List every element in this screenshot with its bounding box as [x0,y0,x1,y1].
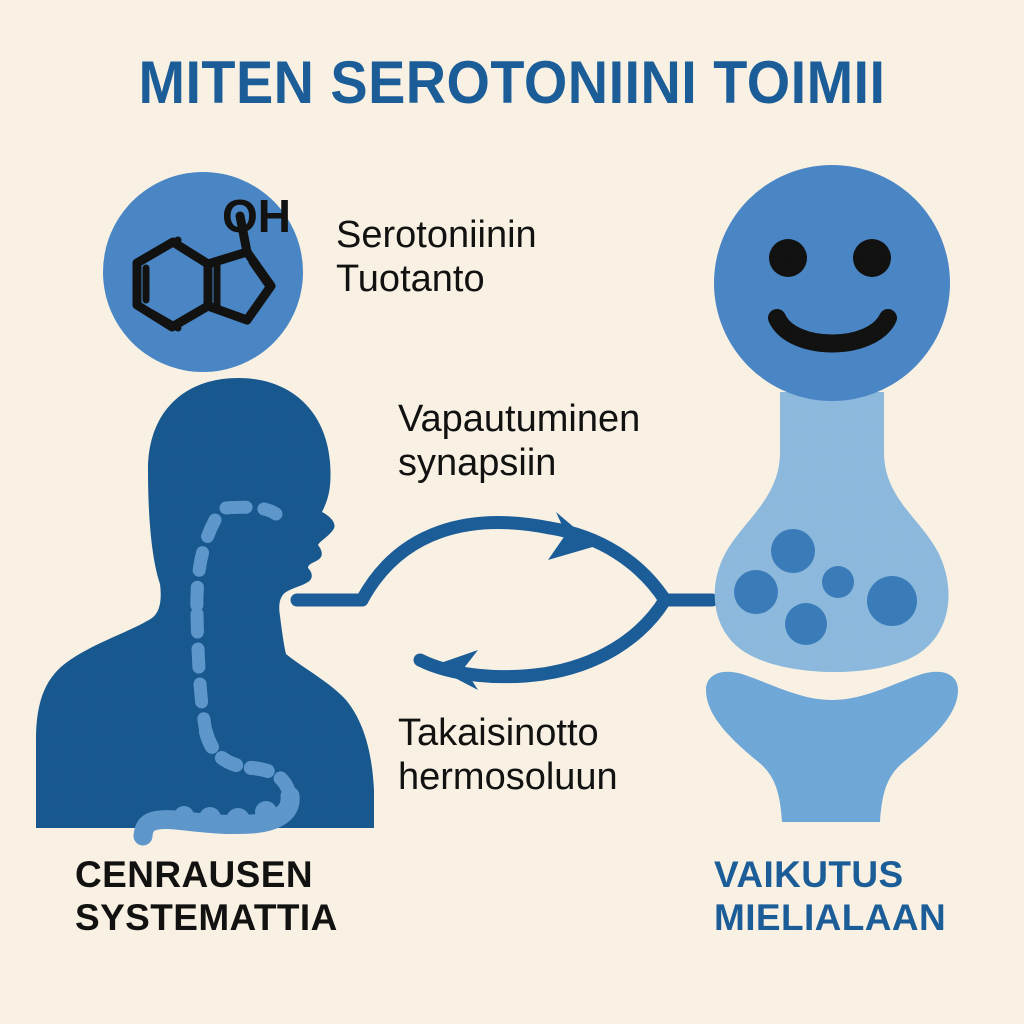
caption-mood-effect: VAIKUTUS MIELIALAAN [714,854,946,939]
reuptake-arrow [543,600,665,674]
synapse-arrows [297,523,712,677]
smiley-eye-right [853,239,891,277]
label-synapse-release: Vapautuminen synapsiin [398,398,640,485]
page-title: MITEN SEROTONIINI TOIMII [36,48,988,117]
vesicle [771,529,815,573]
label-serotonin-production: Serotoniinin Tuotanto [336,214,537,301]
label-reuptake: Takaisinotto hermosoluun [398,712,618,799]
infographic-poster: OH [0,0,1024,1024]
postsynaptic-dendrite-icon [706,672,958,822]
caption-central-system: CENRAUSEN SYSTEMATTIA [75,854,338,939]
serotonin-molecule-icon: OH [103,172,303,372]
release-arrow [362,523,550,600]
smiley-eye-left [769,239,807,277]
vesicle [785,603,827,645]
molecule-oh-label: OH [222,190,291,242]
human-body-silhouette-icon [36,378,374,836]
synaptic-terminal-icon [715,392,949,672]
vesicle [822,566,854,598]
vesicle [734,570,778,614]
vesicle [867,576,917,626]
smiley-face-icon [714,165,950,401]
